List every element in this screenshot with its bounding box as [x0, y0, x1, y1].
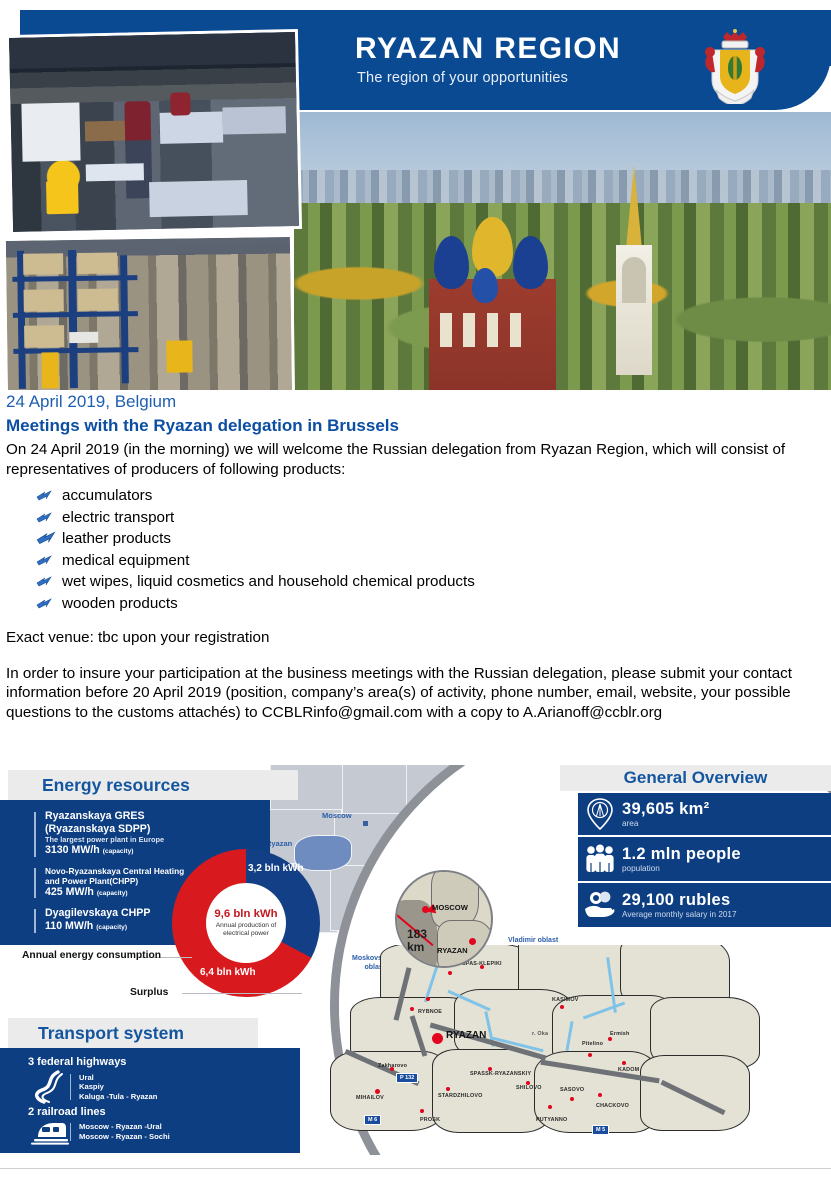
- inset-label-moscow: MOSCOW: [432, 903, 468, 912]
- plant-note: The largest power plant in Europe: [45, 835, 260, 844]
- plant-name-line1: Ryazanskaya GRES: [45, 810, 260, 823]
- stat-caption: Average monthly salary in 2017: [622, 910, 737, 919]
- city-label-chackovo: CHACKOVO: [596, 1103, 629, 1109]
- plant-name-line2: (Ryazanskaya SDPP): [45, 823, 260, 836]
- donut-center: 9,6 bln kWh Annual production of electri…: [206, 883, 286, 963]
- arrow-bullet-icon: [36, 597, 53, 610]
- city-label-rybnoe: RYBNOE: [418, 1009, 442, 1015]
- stat-caption: area: [622, 819, 709, 828]
- city-label-ryazan: RYAZAN: [446, 1030, 486, 1041]
- list-item: wet wipes, liquid cosmetics and househol…: [36, 571, 831, 593]
- city-label-shilovo: SHILOVO: [516, 1085, 542, 1091]
- highway-name: Kaluga -Tula - Ryazan: [79, 1092, 157, 1102]
- stat-value: 1.2 mln people: [622, 845, 741, 864]
- arrow-bullet-icon: [36, 575, 53, 588]
- map-pin-icon: [578, 798, 622, 830]
- city-label-starozhilovo: STARDZHILOVO: [438, 1093, 483, 1099]
- arrow-bullet-icon: [36, 511, 53, 524]
- inset-label-ryazan: RYAZAN: [437, 946, 468, 955]
- donut-consumption-label: Annual energy consumption: [22, 950, 161, 961]
- city-label-kadom: KADOM: [618, 1067, 639, 1073]
- transport-panel-title: Transport system: [38, 1023, 184, 1044]
- donut-center-caption: Annual production of electrical power: [216, 922, 277, 938]
- plant-capacity-value: 110 MW/h: [45, 920, 93, 932]
- arrow-bullet-icon: [36, 489, 53, 502]
- train-icon: [28, 1119, 70, 1145]
- city-label-ermish: Ermish: [610, 1031, 629, 1037]
- leader-line-surplus: [182, 993, 302, 994]
- arrow-bullet-icon: [36, 530, 57, 546]
- article-headline: Meetings with the Ryazan delegation in B…: [6, 416, 831, 436]
- stat-value: 39,605 km²: [622, 800, 709, 819]
- ryazan-region-detail-map: SPAS-KLEPIKI RYBNOE RYAZAN Zakharovo MIH…: [320, 945, 831, 1155]
- transport-panel-header: Transport system: [8, 1018, 258, 1048]
- donut-center-value: 9,6 bln kWh: [214, 908, 277, 920]
- overview-panel-header: General Overview: [560, 765, 831, 791]
- donut-surplus-value: 3,2 bln kWh: [248, 863, 304, 874]
- infographic: Moscow Ryazan Moskovskayaoblast Vladimir…: [0, 765, 831, 1155]
- people-group-icon: [578, 844, 622, 874]
- road-shield-m5: M 5: [592, 1125, 609, 1135]
- footer-divider: [0, 1168, 831, 1169]
- list-item: medical equipment: [36, 550, 831, 572]
- plant-capacity-value: 425 MW/h: [45, 886, 94, 898]
- list-item-label: wooden products: [62, 595, 178, 612]
- list-item: electric transport: [36, 507, 831, 529]
- plant-capacity-caption: (capacity): [97, 890, 128, 897]
- stat-caption: population: [622, 864, 741, 873]
- energy-panel-title: Energy resources: [42, 775, 190, 796]
- article-body: 24 April 2019, Belgium Meetings with the…: [6, 392, 831, 722]
- registration-note: In order to insure your participation at…: [6, 664, 831, 723]
- photo-collage: [0, 14, 831, 390]
- railroad-name: Moscow - Ryazan - Sochi: [79, 1132, 170, 1142]
- railroad-name: Moscow - Ryazan -Ural: [79, 1122, 170, 1132]
- highway-name: Ural: [79, 1073, 157, 1083]
- stat-value: 29,100 rubles: [622, 891, 737, 910]
- list-item: leather products: [36, 528, 831, 550]
- photo-textile-factory: [6, 29, 302, 235]
- highways-heading: 3 federal highways: [28, 1056, 292, 1068]
- donut-surplus-label: Surplus: [130, 987, 168, 998]
- road-shield-m6: M 6: [364, 1115, 381, 1125]
- list-item-label: accumulators: [62, 487, 152, 504]
- product-list: accumulators electric transport leather …: [6, 485, 831, 614]
- list-item-label: electric transport: [62, 509, 174, 526]
- plant-capacity-caption: (capacity): [96, 924, 127, 931]
- road-shield-p132: P 132: [396, 1073, 418, 1083]
- photo-warehouse: [3, 234, 295, 390]
- stat-population: 1.2 mln people population: [578, 837, 831, 881]
- donut-consumption-value: 6,4 bln kWh: [200, 967, 256, 978]
- list-item: wooden products: [36, 593, 831, 615]
- river-label-oka: r. Oka: [532, 1031, 548, 1037]
- inset-distance-value: 183: [407, 927, 427, 941]
- label-vladimir-oblast: Vladimir oblast: [508, 937, 558, 944]
- plant-capacity-caption: (capacity): [103, 848, 134, 855]
- city-label-pitelino: Pitelino: [582, 1041, 603, 1047]
- article-intro: On 24 April 2019 (in the morning) we wil…: [6, 440, 831, 479]
- stat-salary: 29,100 rubles Average monthly salary in …: [578, 883, 831, 927]
- overview-panel-title: General Overview: [624, 768, 768, 788]
- winding-road-icon: [28, 1070, 70, 1104]
- photo-ryazan-kremlin: [294, 112, 831, 390]
- inset-distance: 183 km: [407, 928, 427, 954]
- city-label-putyanno: PUTYANNO: [536, 1117, 567, 1123]
- plant-capacity-value: 3130 MW/h: [45, 844, 100, 856]
- city-label-spassk-ryazanskiy: SPASSK-RYAZANSKIY: [470, 1071, 531, 1077]
- transport-panel-body: 3 federal highways Ural Kaspiy Kaluga -T…: [0, 1048, 300, 1153]
- railroads-heading: 2 railroad lines: [28, 1106, 292, 1118]
- list-item-label: medical equipment: [62, 552, 189, 569]
- city-label-mihailov: MIHAILOV: [356, 1095, 384, 1101]
- stat-area: 39,605 km² area: [578, 793, 831, 835]
- article-date: 24 April 2019, Belgium: [6, 392, 831, 412]
- city-label-kasimov: KASIMOV: [552, 997, 579, 1003]
- city-label-sasovo: SASOVO: [560, 1087, 584, 1093]
- city-label-prosk: PROSK: [420, 1117, 440, 1123]
- inset-distance-unit: km: [407, 940, 424, 954]
- venue-note: Exact venue: tbc upon your registration: [6, 628, 831, 648]
- highway-name: Kaspiy: [79, 1082, 157, 1092]
- mini-dot-moscow: [363, 821, 368, 826]
- energy-panel-header: Energy resources: [8, 770, 298, 800]
- arrow-bullet-icon: [36, 554, 53, 567]
- money-hand-icon: [578, 890, 622, 920]
- mini-label-moscow: Moscow: [322, 811, 352, 820]
- list-item-label: wet wipes, liquid cosmetics and househol…: [62, 573, 475, 590]
- city-label-zakharovo: Zakharovo: [378, 1063, 407, 1069]
- distance-inset-map: MOSCOW RYAZAN 183 km: [395, 870, 493, 968]
- list-item-label: leather products: [62, 530, 171, 547]
- list-item: accumulators: [36, 485, 831, 507]
